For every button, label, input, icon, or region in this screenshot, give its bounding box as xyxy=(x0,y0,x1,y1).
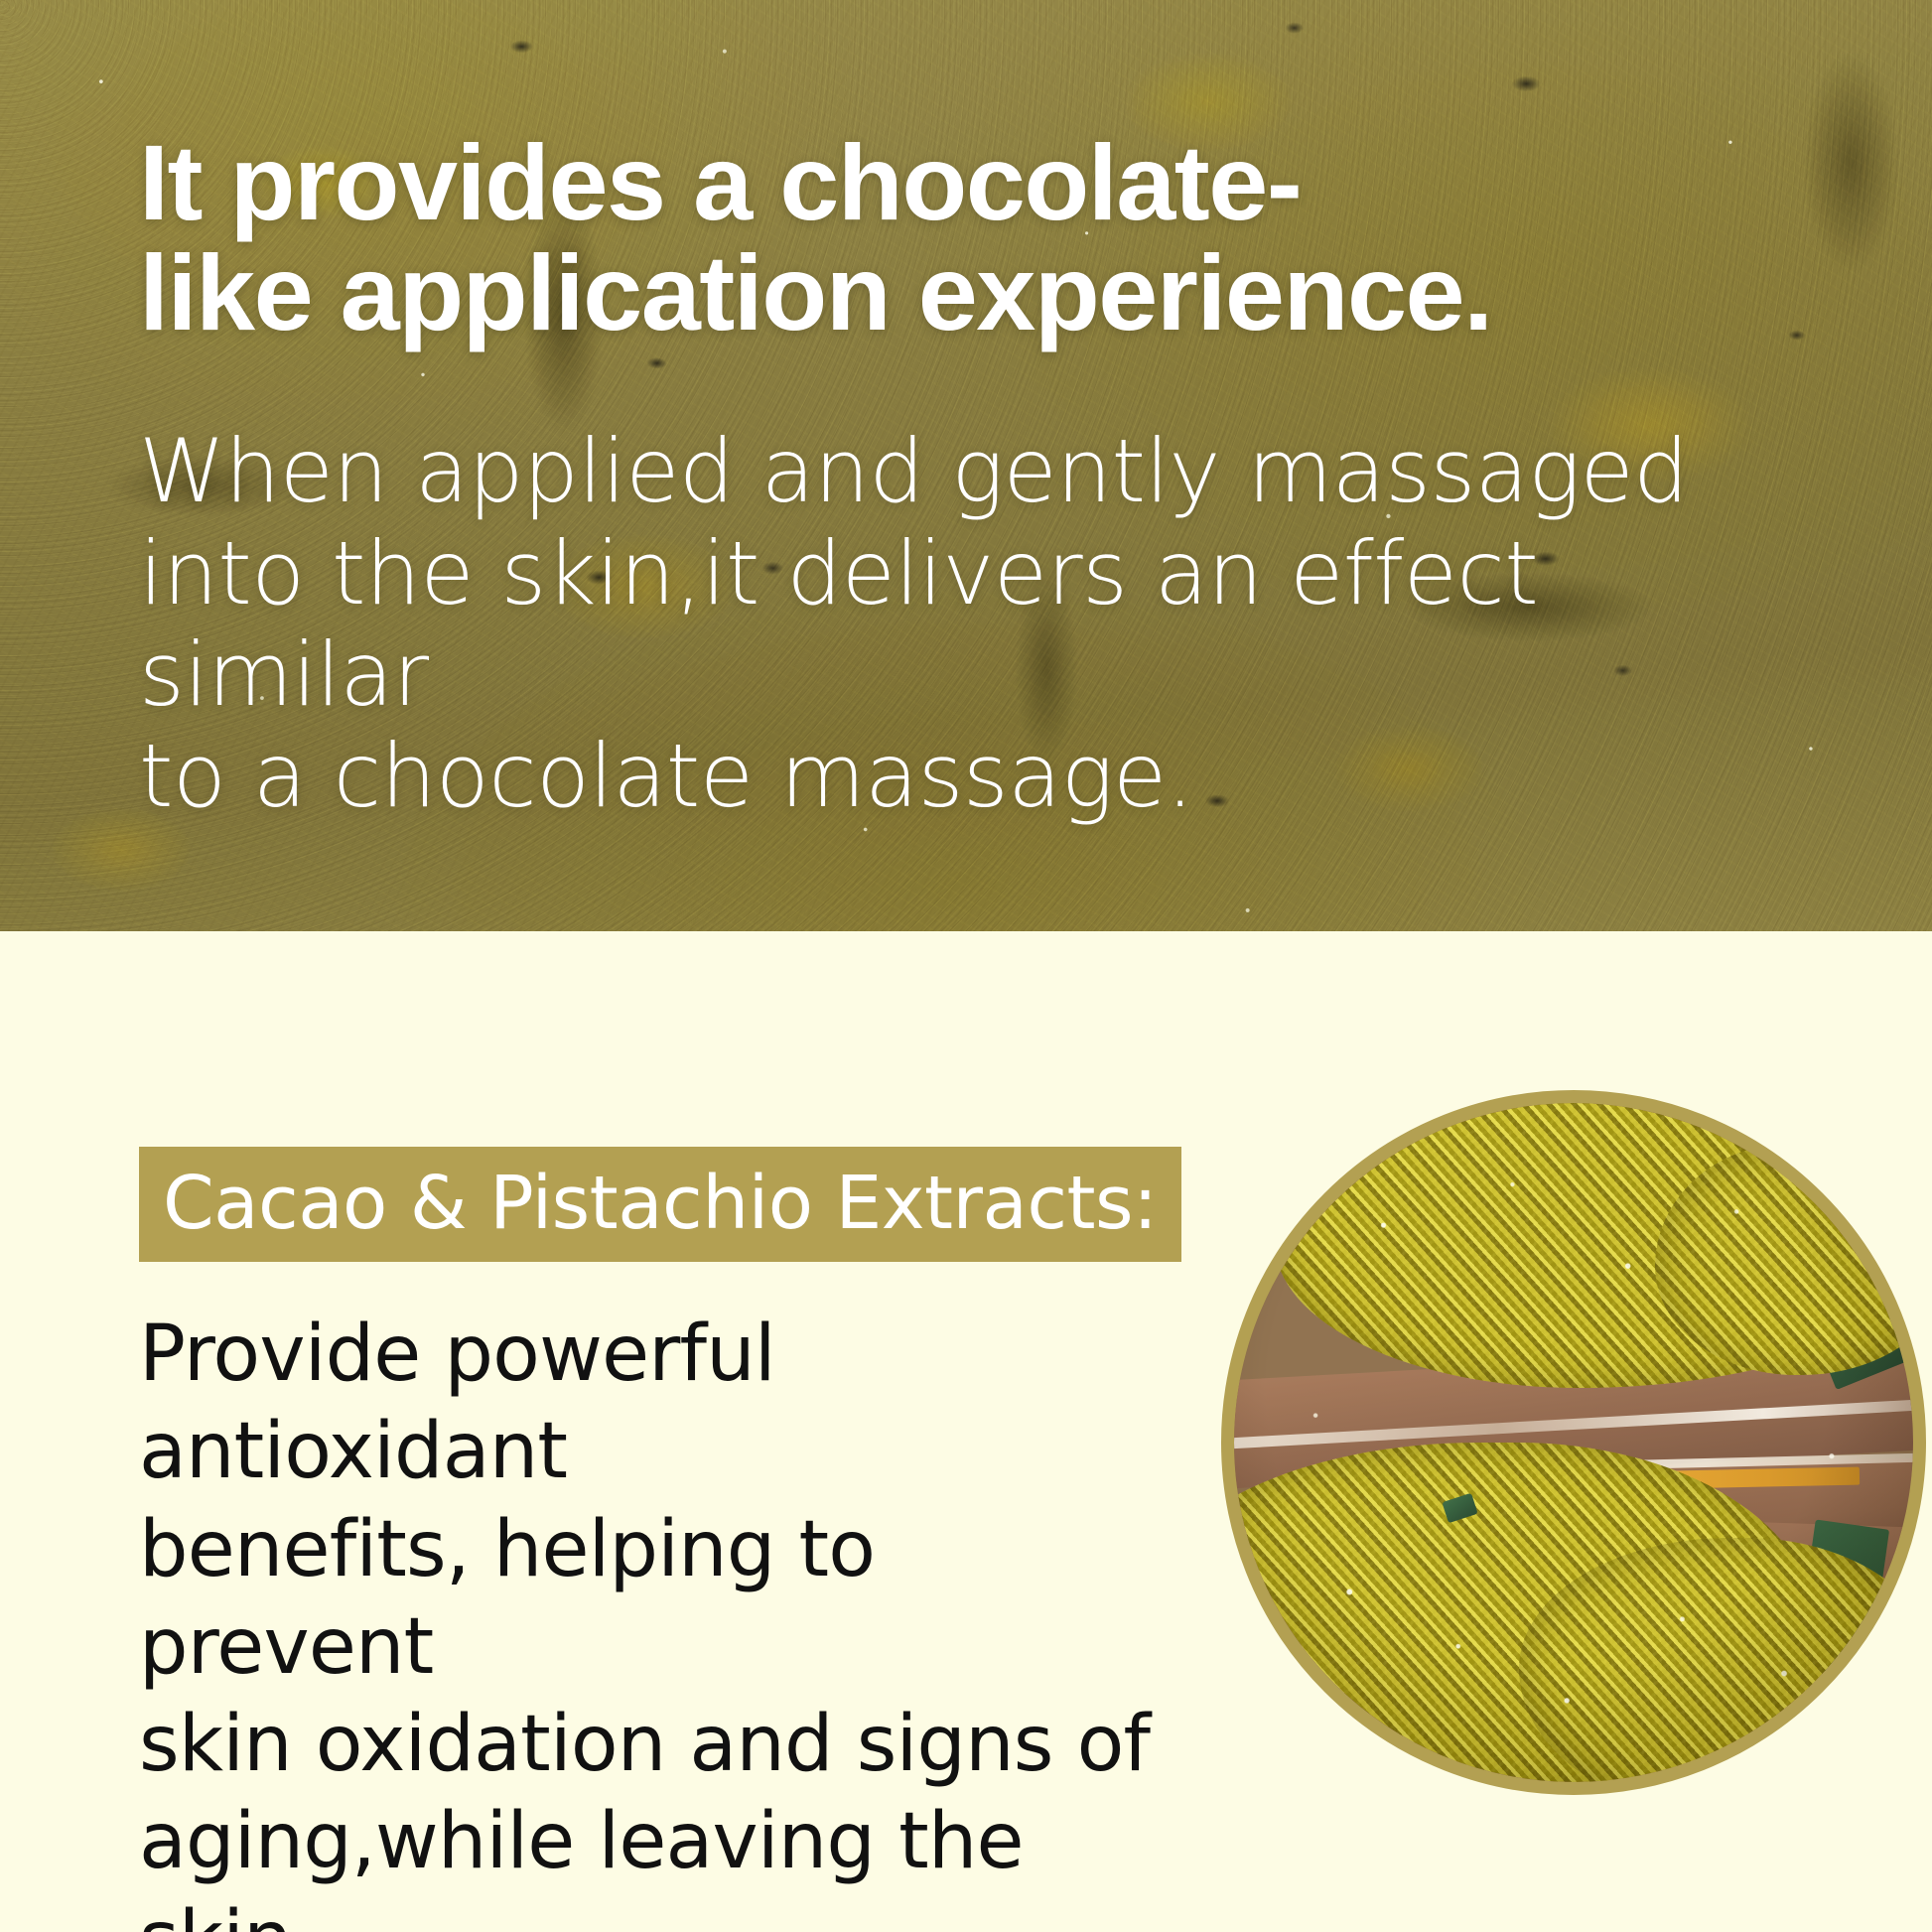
hero-section: It provides a chocolate- like applicatio… xyxy=(0,0,1932,931)
promo-card: It provides a chocolate- like applicatio… xyxy=(0,0,1932,1932)
hero-content: It provides a chocolate- like applicatio… xyxy=(139,0,1807,827)
ingredient-text-block: Cacao & Pistachio Extracts: Provide powe… xyxy=(139,1147,1191,1932)
product-photo-image xyxy=(1234,1103,1913,1782)
hero-description: When applied and gently massaged into th… xyxy=(139,347,1807,826)
product-photo-circle xyxy=(1221,1090,1926,1795)
ingredient-panel: Cacao & Pistachio Extracts: Provide powe… xyxy=(0,931,1932,1932)
hero-title: It provides a chocolate- like applicatio… xyxy=(139,0,1807,347)
ingredient-heading-badge: Cacao & Pistachio Extracts: xyxy=(139,1147,1181,1262)
ingredient-description: Provide powerful antioxidant benefits, h… xyxy=(139,1262,1191,1932)
